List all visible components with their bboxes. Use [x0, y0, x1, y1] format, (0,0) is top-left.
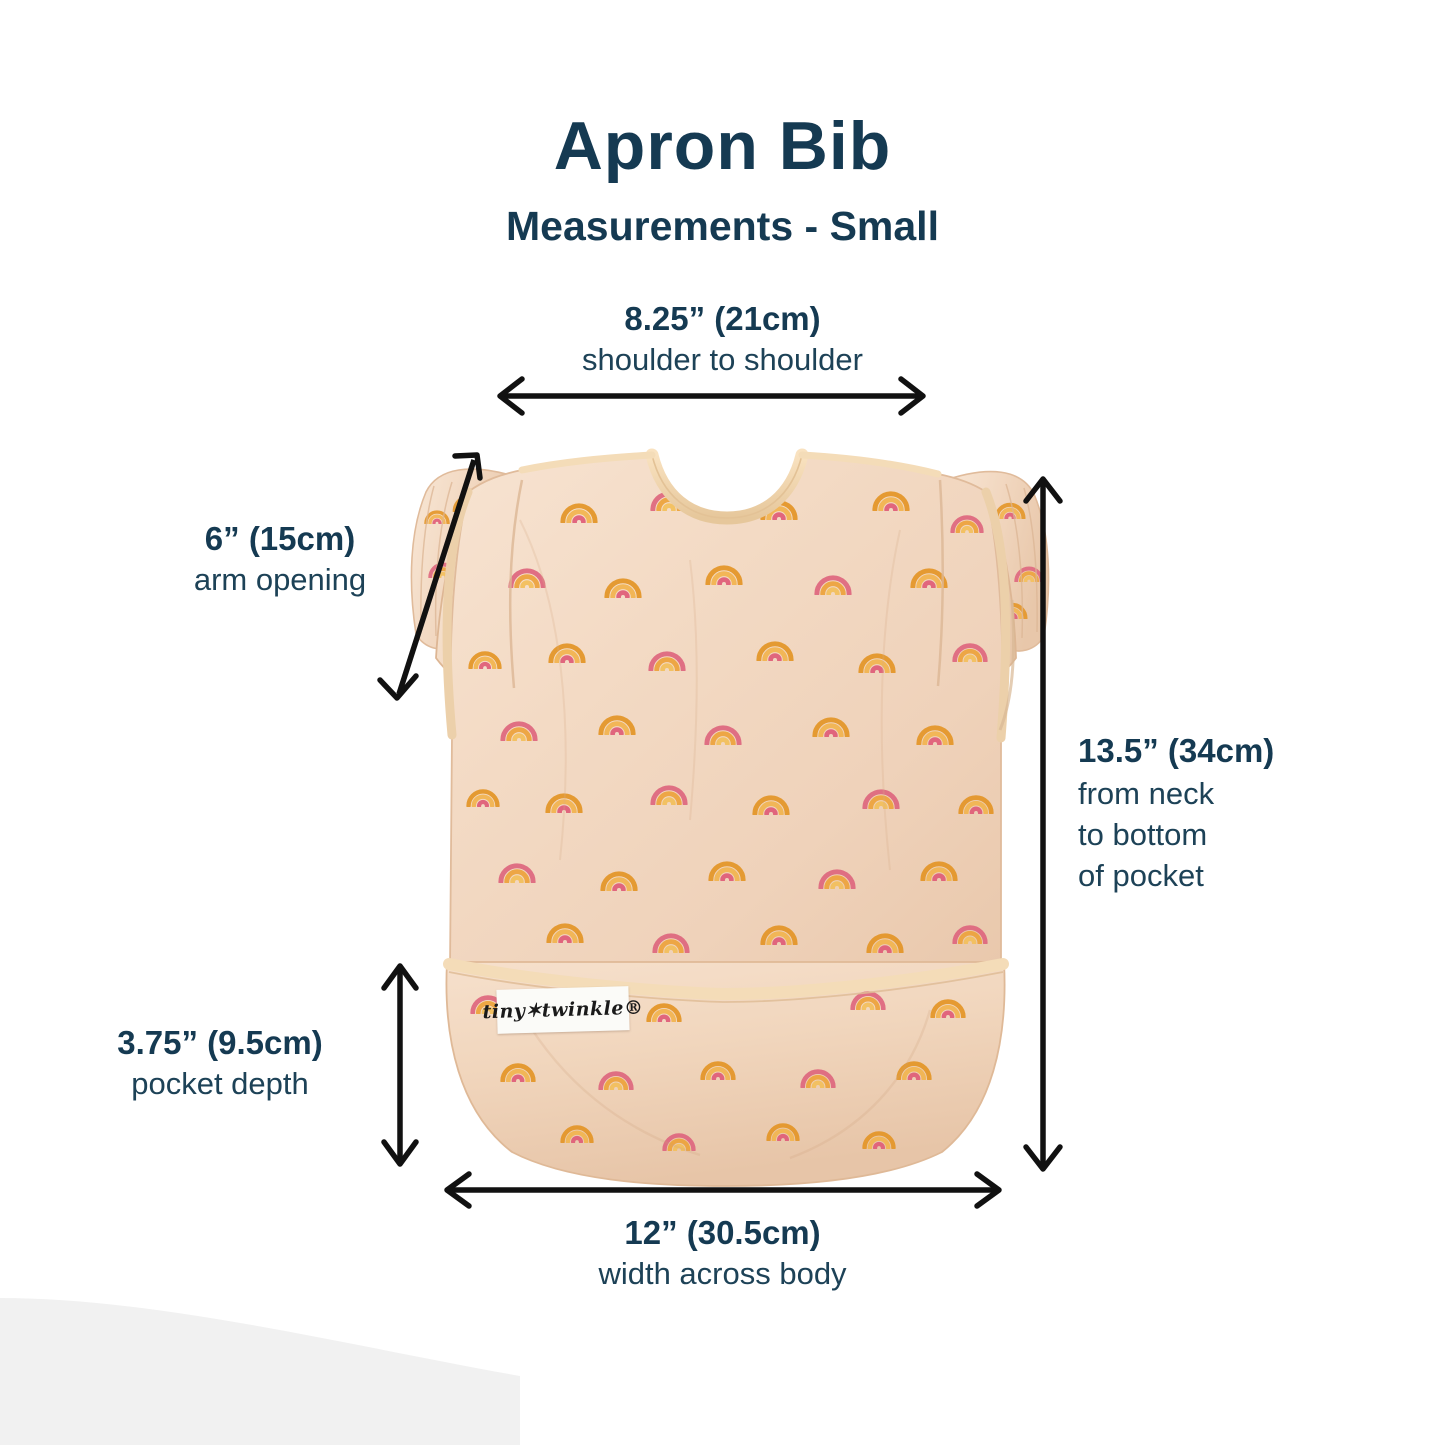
- measurement-label-arm-opening: 6” (15cm) arm opening: [130, 518, 430, 600]
- brand-label-tag: tiny✶twinkle®: [496, 986, 629, 1034]
- measurement-value-width: 12” (30.5cm): [0, 1212, 1445, 1254]
- measurement-desc-width: width across body: [0, 1254, 1445, 1295]
- measurement-label-pocket-depth: 3.75” (9.5cm) pocket depth: [55, 1022, 385, 1104]
- measurement-value-shoulder: 8.25” (21cm): [0, 298, 1445, 340]
- measurement-desc-neck-line1: from neck: [1078, 773, 1408, 814]
- measurement-label-width-across-body: 12” (30.5cm) width across body: [0, 1212, 1445, 1295]
- brand-label-text: tiny✶twinkle®: [482, 997, 643, 1023]
- measurement-desc-neck-line3: of pocket: [1078, 855, 1408, 896]
- measurement-desc-neck-line2: to bottom: [1078, 814, 1408, 855]
- measurement-value-arm-opening: 6” (15cm): [130, 518, 430, 560]
- measurement-desc-pocket-depth: pocket depth: [55, 1064, 385, 1105]
- measurement-label-neck-to-pocket: 13.5” (34cm) from neck to bottom of pock…: [1078, 730, 1408, 897]
- measurement-label-shoulder-to-shoulder: 8.25” (21cm) shoulder to shoulder: [0, 298, 1445, 380]
- measurement-desc-shoulder: shoulder to shoulder: [0, 340, 1445, 380]
- measurement-value-neck-to-pocket: 13.5” (34cm): [1078, 730, 1408, 773]
- diagram-canvas: Apron Bib Measurements - Small: [0, 0, 1445, 1445]
- measurement-value-pocket-depth: 3.75” (9.5cm): [55, 1022, 385, 1064]
- arrowhead-arm-bottom: [380, 676, 416, 698]
- measurement-desc-arm-opening: arm opening: [130, 560, 430, 601]
